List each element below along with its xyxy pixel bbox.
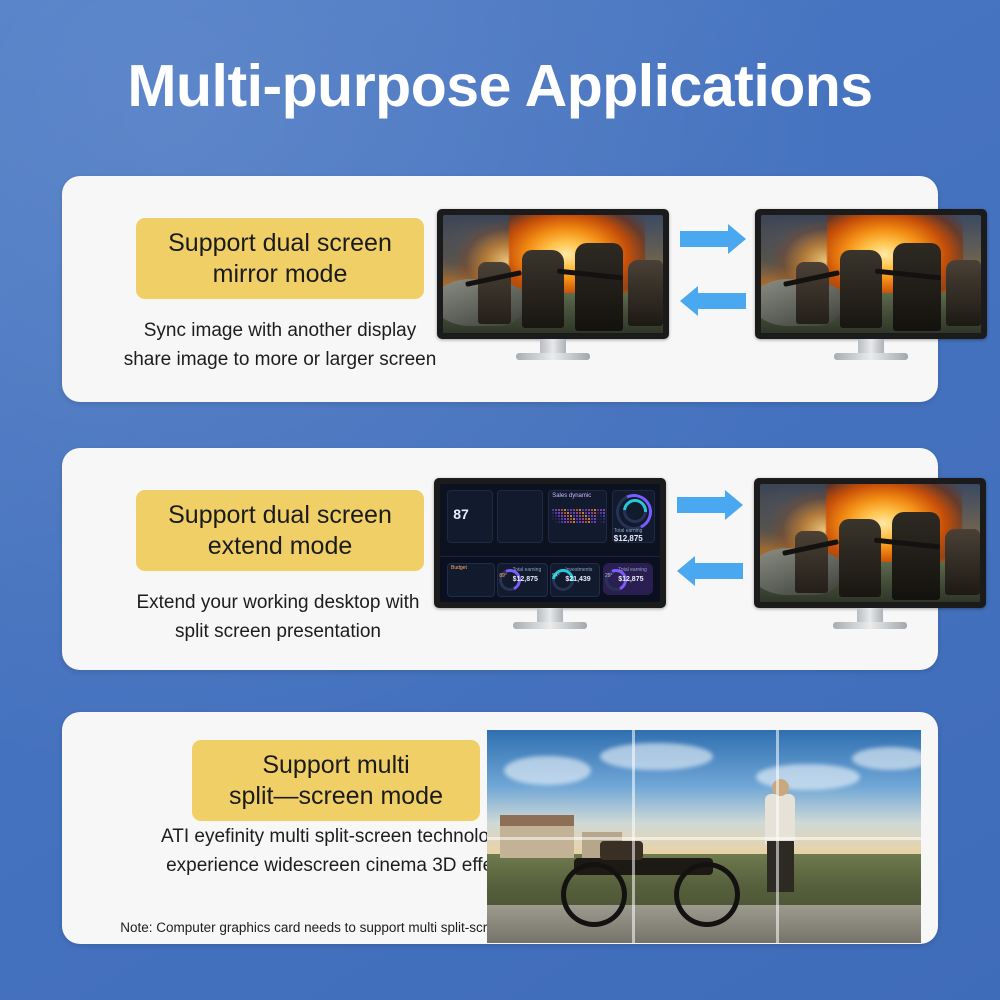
video-wall [487, 730, 921, 943]
wall-divider-h1 [487, 837, 921, 840]
section-card-multi-split: Support multi split—screen mode ATI eyef… [62, 712, 938, 944]
dashboard-card-2-label: Investments [565, 567, 592, 573]
video-wall-artwork [487, 730, 921, 943]
dashboard-card-2-value: $21,439 [565, 576, 590, 583]
monitor-screen [443, 215, 663, 333]
dashboard-panel-title: Sales dynamic [552, 493, 591, 499]
badge-mirror: Support dual screen mirror mode [136, 218, 424, 299]
dashboard-panel-value: $12,875 [614, 534, 643, 543]
arrow-left-mirror [680, 286, 746, 316]
monitor-screen [760, 484, 980, 602]
monitor-bezel [755, 209, 987, 339]
section-card-extend: Support dual screen extend mode Extend y… [62, 448, 938, 670]
monitor-screen: 87 Sales dynamic [440, 484, 660, 602]
monitor-extend-left: 87 Sales dynamic [434, 478, 666, 608]
monitor-bezel: 87 Sales dynamic [434, 478, 666, 608]
page-title: Multi-purpose Applications [0, 54, 1000, 119]
monitor-stand [833, 608, 907, 629]
description-mirror: Sync image with another display share im… [106, 316, 454, 375]
dashboard-card-1-value: $12,875 [513, 576, 538, 583]
dashboard-artwork: 87 Sales dynamic [440, 484, 660, 602]
monitor-bezel [754, 478, 986, 608]
section-card-mirror: Support dual screen mirror mode Sync ima… [62, 176, 938, 402]
dashboard-card-2-badge: 54° [552, 573, 560, 579]
arrow-right-mirror [680, 224, 746, 254]
monitor-bezel [437, 209, 669, 339]
badge-extend: Support dual screen extend mode [136, 490, 424, 571]
monitor-stand [834, 339, 908, 360]
dashboard-card-1-badge: 89° [499, 573, 507, 579]
poster-background: Multi-purpose Applications Support dual … [0, 0, 1000, 1000]
monitor-mirror-right [755, 209, 987, 339]
monitor-stand [516, 339, 590, 360]
monitor-stand [513, 608, 587, 629]
monitor-mirror-left [437, 209, 669, 339]
arrow-right-extend [677, 490, 743, 520]
dashboard-card-3-label: Total earning [618, 567, 647, 573]
game-artwork [760, 484, 980, 602]
arrow-left-extend [677, 556, 743, 586]
dashboard-card-3-badge: 29° [605, 573, 613, 579]
monitor-extend-right [754, 478, 986, 608]
game-artwork [443, 215, 663, 333]
description-extend: Extend your working desktop with split s… [92, 588, 464, 647]
dashboard-card-3-value: $12,875 [618, 576, 643, 583]
dashboard-kpi-value: 87 [453, 506, 469, 522]
badge-multi-split: Support multi split—screen mode [192, 740, 480, 821]
dashboard-card-1-label: Total earning [513, 567, 542, 573]
game-artwork [761, 215, 981, 333]
monitor-screen [761, 215, 981, 333]
note-multi-split: Note: Computer graphics card needs to su… [72, 920, 558, 935]
dashboard-card-0-label: Budget [451, 565, 467, 571]
